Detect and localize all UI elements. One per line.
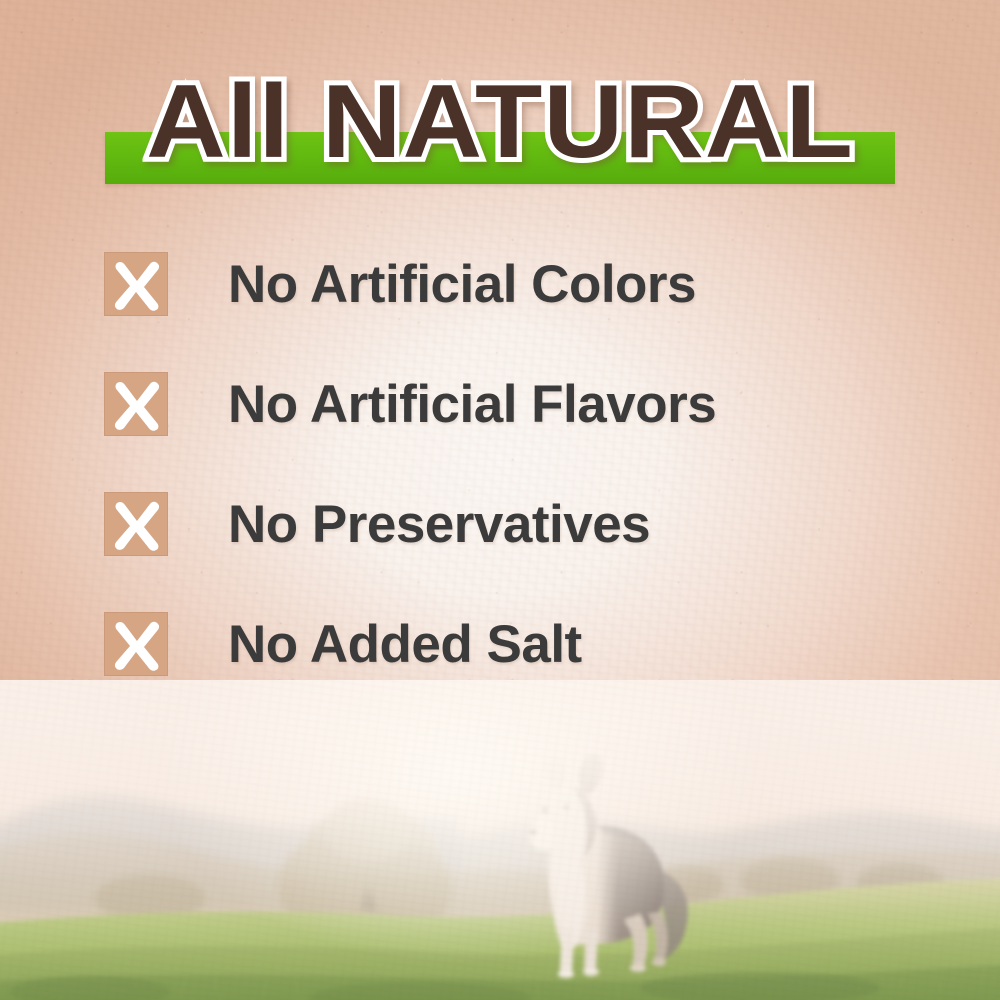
claim-label: No Preservatives [228, 498, 650, 551]
x-mark-icon [104, 612, 168, 676]
list-item: No Added Salt [104, 608, 924, 680]
claims-list: No Artificial Colors No Artificial Flavo… [104, 248, 924, 680]
claim-label: No Artificial Colors [228, 258, 696, 311]
headline-block: All NATURAL [0, 62, 1000, 202]
x-mark-icon [104, 492, 168, 556]
x-mark-icon [104, 252, 168, 316]
landscape-illustration [0, 680, 1000, 1000]
dog-in-field-photo [0, 680, 1000, 1000]
page-title: All NATURAL [0, 62, 1000, 182]
x-mark-icon [104, 372, 168, 436]
poster-canvas: All NATURAL No Artificial Colors No Arti… [0, 0, 1000, 1000]
list-item: No Artificial Flavors [104, 368, 924, 440]
list-item: No Artificial Colors [104, 248, 924, 320]
list-item: No Preservatives [104, 488, 924, 560]
claim-label: No Added Salt [228, 618, 582, 671]
claim-label: No Artificial Flavors [228, 378, 716, 431]
